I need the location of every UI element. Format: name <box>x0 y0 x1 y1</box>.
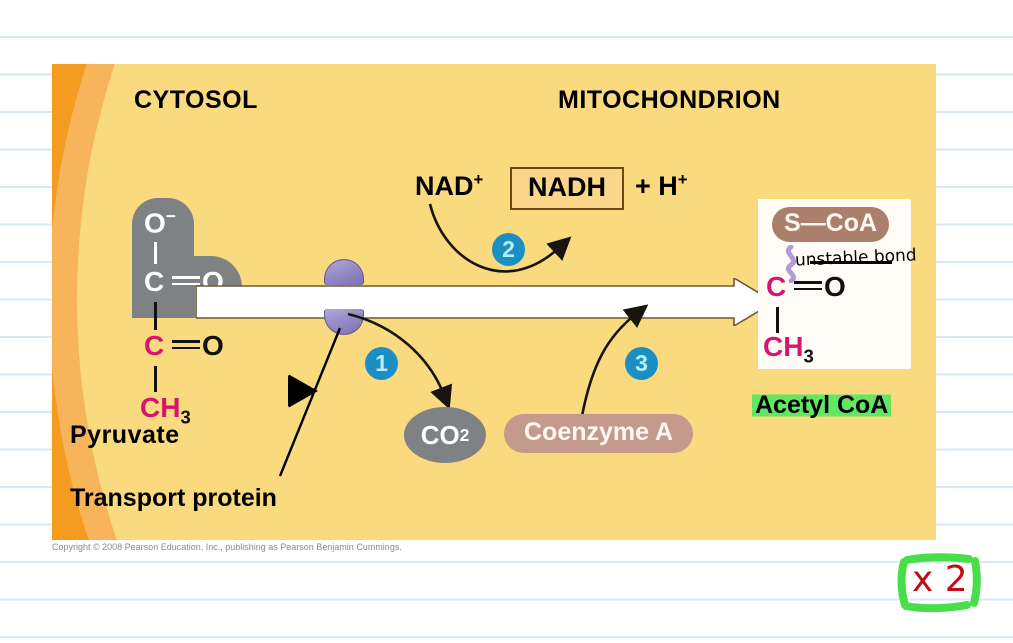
acetyl-coa-structure-box: S—CoA C O CH3 <box>758 199 911 369</box>
step-badge-3: 3 <box>625 347 658 380</box>
nadh-box: NADH <box>510 167 624 210</box>
transport-protein-label: Transport protein <box>70 484 277 513</box>
step-badge-1: 1 <box>365 347 398 380</box>
acetylcoa-bond-c-ch3 <box>776 307 779 333</box>
h-plus-label: + H+ <box>635 170 688 202</box>
acetylcoa-atom-ch3: CH3 <box>763 333 814 366</box>
x2-annotation: x 2 <box>893 551 981 613</box>
nad-plus-label: NAD+ <box>415 170 483 202</box>
coenzyme-a-pill: Coenzyme A <box>504 414 693 453</box>
copyright-notice: Copyright © 2008 Pearson Education, Inc.… <box>52 542 402 552</box>
step-badge-2: 2 <box>492 233 525 266</box>
x2-text: x 2 <box>912 559 968 600</box>
cursor-pointer-icon <box>288 374 318 408</box>
pyruvate-oxidation-diagram: CYTOSOL MITOCHONDRION O− C O C O CH3 Pyr… <box>52 64 936 540</box>
co2-molecule: CO2 <box>404 407 486 463</box>
acetylcoa-atom-c: C <box>766 273 786 301</box>
acetylcoa-double-bond-c-o <box>794 281 822 291</box>
acetylcoa-atom-o: O <box>824 273 846 301</box>
acetyl-coa-label: Acetyl CoA <box>752 391 891 420</box>
s-coa-pill: S—CoA <box>772 207 889 242</box>
